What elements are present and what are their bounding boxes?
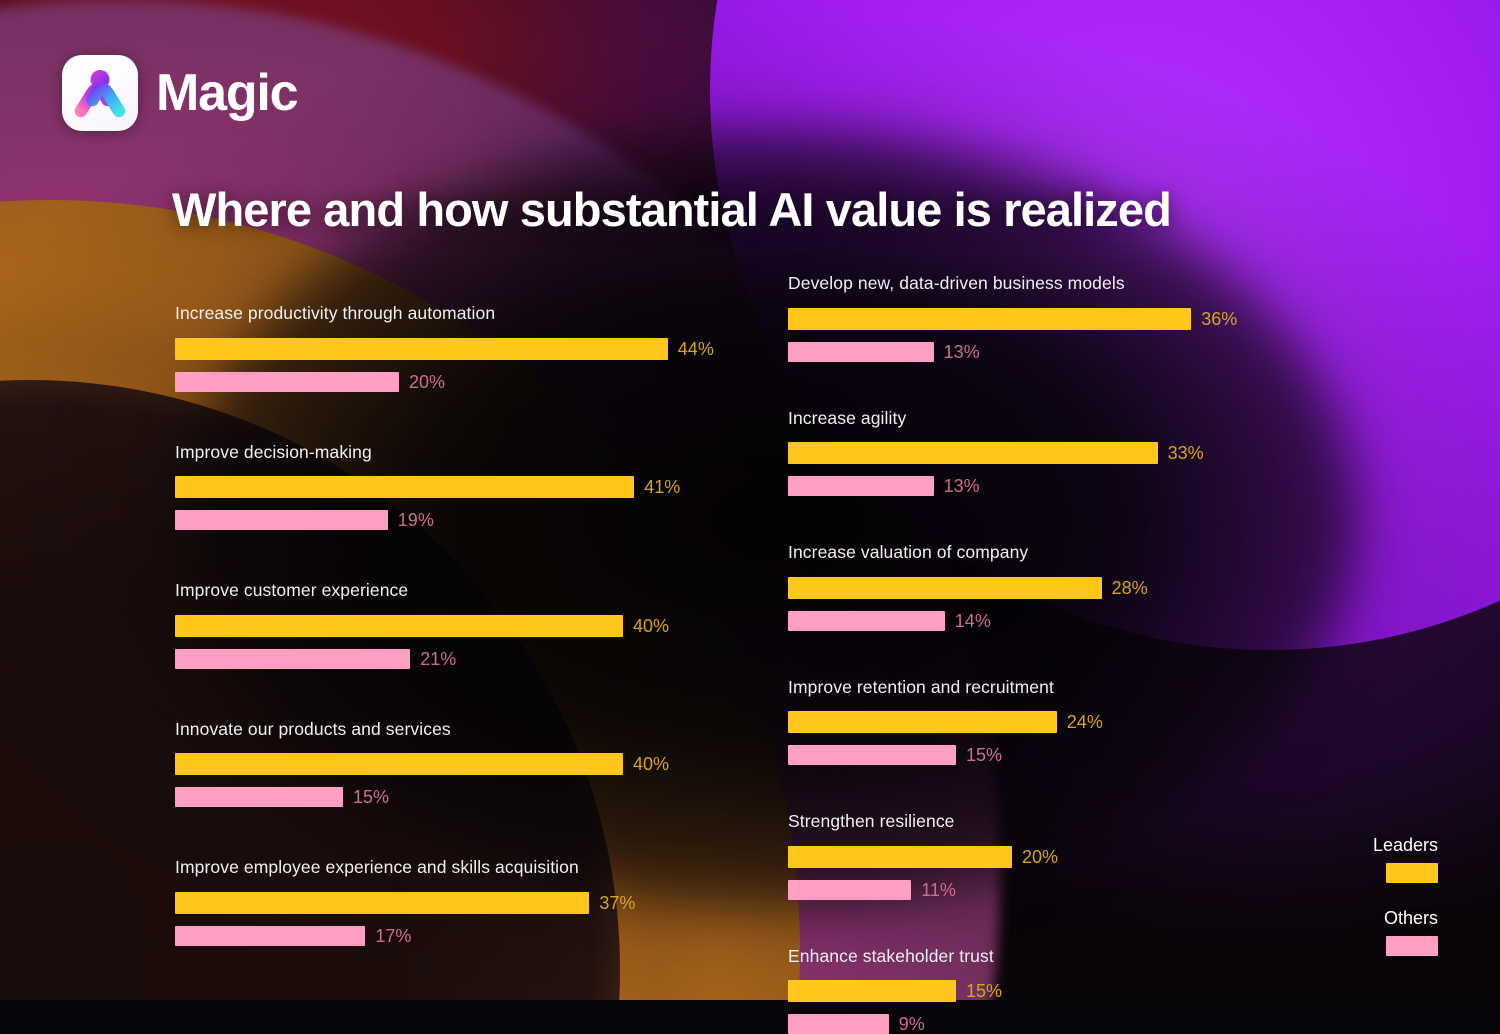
- legend-label-others: Others: [1373, 909, 1438, 927]
- bar-value-others: 9%: [899, 1015, 925, 1033]
- legend-item-others: Others: [1373, 909, 1438, 956]
- bar-row-leaders: 40%: [175, 753, 775, 775]
- bar-row-others: 17%: [175, 926, 775, 946]
- bar-row-others: 14%: [788, 611, 1348, 631]
- bar-leaders: [175, 615, 623, 637]
- bar-others: [175, 372, 399, 392]
- bar-row-others: 19%: [175, 510, 775, 530]
- chart-legend: Leaders Others: [1373, 836, 1438, 956]
- bar-group-label: Improve customer experience: [175, 582, 775, 600]
- chart-column-left: Increase productivity through automation…: [175, 305, 775, 946]
- bar-value-others: 20%: [409, 373, 445, 391]
- bar-value-leaders: 28%: [1112, 579, 1148, 597]
- bar-group-label: Develop new, data-driven business models: [788, 275, 1348, 293]
- bar-group-label: Improve employee experience and skills a…: [175, 859, 775, 877]
- bar-value-others: 17%: [375, 927, 411, 945]
- bar-group: Improve retention and recruitment24%15%: [788, 679, 1348, 766]
- bar-leaders: [175, 476, 634, 498]
- bar-row-others: 9%: [788, 1014, 1348, 1034]
- bar-group-label: Increase valuation of company: [788, 544, 1348, 562]
- bar-others: [175, 649, 410, 669]
- bar-leaders: [175, 338, 668, 360]
- bar-group-label: Increase productivity through automation: [175, 305, 775, 323]
- bar-group: Improve customer experience40%21%: [175, 582, 775, 669]
- bar-others: [788, 476, 934, 496]
- bar-group: Strengthen resilience20%11%: [788, 813, 1348, 900]
- bar-group-label: Increase agility: [788, 410, 1348, 428]
- page-title: Where and how substantial AI value is re…: [172, 182, 1171, 237]
- chart-column-right: Develop new, data-driven business models…: [788, 275, 1348, 1034]
- bar-others: [788, 342, 934, 362]
- bar-value-others: 14%: [955, 612, 991, 630]
- bar-row-others: 15%: [788, 745, 1348, 765]
- bar-row-others: 21%: [175, 649, 775, 669]
- bar-row-leaders: 20%: [788, 846, 1348, 868]
- bar-group: Innovate our products and services40%15%: [175, 721, 775, 808]
- bar-value-leaders: 33%: [1168, 444, 1204, 462]
- bar-group-label: Strengthen resilience: [788, 813, 1348, 831]
- bar-row-leaders: 33%: [788, 442, 1348, 464]
- bar-row-leaders: 24%: [788, 711, 1348, 733]
- magic-logo-icon: [62, 55, 138, 131]
- bar-leaders: [788, 711, 1057, 733]
- bar-group-label: Improve decision-making: [175, 444, 775, 462]
- bar-leaders: [175, 892, 589, 914]
- bar-value-leaders: 24%: [1067, 713, 1103, 731]
- legend-item-leaders: Leaders: [1373, 836, 1438, 883]
- legend-swatch-others-icon: [1386, 936, 1438, 956]
- bar-group: Develop new, data-driven business models…: [788, 275, 1348, 362]
- bar-value-leaders: 40%: [633, 617, 669, 635]
- bar-row-leaders: 15%: [788, 980, 1348, 1002]
- bar-value-leaders: 41%: [644, 478, 680, 496]
- bar-value-leaders: 20%: [1022, 848, 1058, 866]
- bar-value-leaders: 36%: [1201, 310, 1237, 328]
- bar-others: [175, 926, 365, 946]
- bar-others: [788, 1014, 889, 1034]
- bar-value-others: 21%: [420, 650, 456, 668]
- bar-row-others: 13%: [788, 476, 1348, 496]
- bar-group: Increase valuation of company28%14%: [788, 544, 1348, 631]
- slide-content: Magic Where and how substantial AI value…: [0, 0, 1500, 1000]
- bar-row-leaders: 36%: [788, 308, 1348, 330]
- bar-leaders: [788, 577, 1102, 599]
- bar-group: Increase agility33%13%: [788, 410, 1348, 497]
- bar-row-others: 20%: [175, 372, 775, 392]
- bar-row-leaders: 41%: [175, 476, 775, 498]
- bar-row-leaders: 40%: [175, 615, 775, 637]
- bar-value-leaders: 44%: [678, 340, 714, 358]
- brand-name: Magic: [156, 63, 297, 123]
- bar-others: [788, 611, 945, 631]
- bar-value-others: 15%: [966, 746, 1002, 764]
- bar-group-label: Improve retention and recruitment: [788, 679, 1348, 697]
- brand-lockup: Magic: [62, 55, 297, 131]
- bar-group-label: Innovate our products and services: [175, 721, 775, 739]
- bar-value-leaders: 37%: [599, 894, 635, 912]
- legend-swatch-leaders-icon: [1386, 863, 1438, 883]
- bar-row-leaders: 37%: [175, 892, 775, 914]
- bar-row-leaders: 28%: [788, 577, 1348, 599]
- bar-group: Increase productivity through automation…: [175, 305, 775, 392]
- bar-leaders: [788, 442, 1158, 464]
- bar-value-others: 15%: [353, 788, 389, 806]
- bar-leaders: [788, 846, 1012, 868]
- bar-value-others: 19%: [398, 511, 434, 529]
- bar-others: [175, 787, 343, 807]
- bar-group-label: Enhance stakeholder trust: [788, 948, 1348, 966]
- bar-value-leaders: 40%: [633, 755, 669, 773]
- bar-others: [175, 510, 388, 530]
- bar-row-others: 15%: [175, 787, 775, 807]
- bar-group: Improve decision-making41%19%: [175, 444, 775, 531]
- bar-group: Enhance stakeholder trust15%9%: [788, 948, 1348, 1034]
- bar-row-others: 13%: [788, 342, 1348, 362]
- bar-leaders: [175, 753, 623, 775]
- bar-value-others: 13%: [944, 343, 980, 361]
- bar-row-others: 11%: [788, 880, 1348, 900]
- legend-label-leaders: Leaders: [1373, 836, 1438, 854]
- bar-others: [788, 745, 956, 765]
- bar-leaders: [788, 980, 956, 1002]
- bar-group: Improve employee experience and skills a…: [175, 859, 775, 946]
- bar-leaders: [788, 308, 1191, 330]
- bar-value-others: 13%: [944, 477, 980, 495]
- bar-value-others: 11%: [921, 881, 956, 899]
- bar-row-leaders: 44%: [175, 338, 775, 360]
- bar-others: [788, 880, 911, 900]
- bar-value-leaders: 15%: [966, 982, 1002, 1000]
